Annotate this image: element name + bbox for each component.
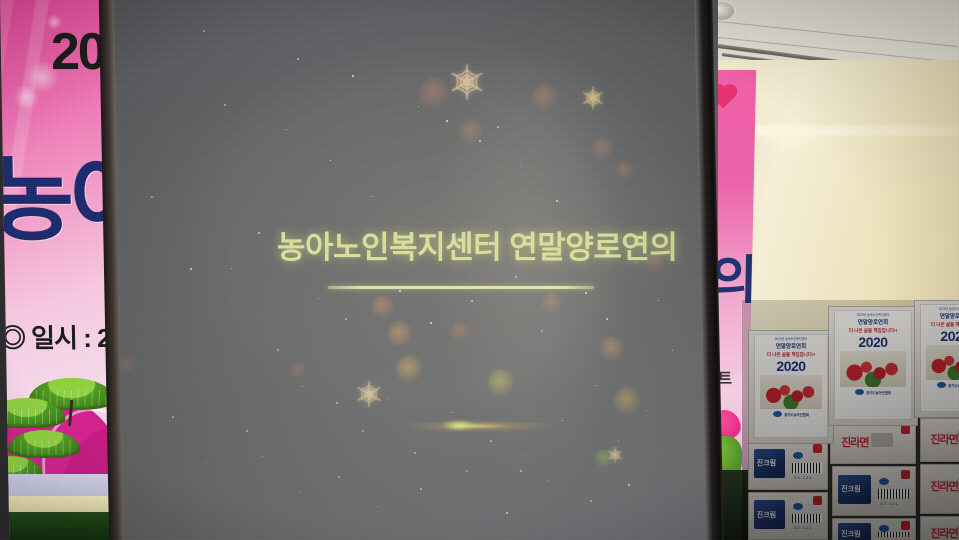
- pack-label: 진크림: [841, 529, 860, 539]
- gift-box-stack: 진라면진라면진크림62.121진크림62.121진라면진크림62.121진크림6…: [742, 300, 959, 540]
- poster-subtitle: 2020년 농아노인복지센터: [939, 307, 959, 311]
- gift-box-poster: 2020년 농아노인복지센터연말양로연회더 나은 삶을 책임집니다!!2020경…: [920, 304, 959, 412]
- org-name: 경기도농아인협회: [948, 383, 959, 388]
- brand-logo-icon: [901, 521, 910, 530]
- poster-year: 2020: [940, 329, 959, 343]
- poster-org-logo: 경기도농아인협회: [773, 411, 809, 417]
- carton-panel: [871, 433, 893, 447]
- org-mark-icon: [773, 411, 782, 417]
- org-name: 경기도농아인협회: [866, 390, 891, 395]
- lens-flare-core: [442, 420, 476, 431]
- brand-logo-icon: [813, 444, 822, 453]
- pack-label: 진크림: [757, 458, 776, 468]
- poster-title: 연말양로연회: [940, 312, 959, 320]
- poster-year: 2020: [776, 359, 805, 373]
- poster-food-image: [926, 345, 959, 380]
- poster-title: 연말양로연회: [858, 318, 888, 326]
- poster-food-image: [760, 375, 822, 409]
- org-mark-icon: [855, 389, 864, 395]
- banner-band-green: [3, 512, 117, 540]
- carton-brand: 진라면: [930, 525, 957, 540]
- ramen-carton: 진라면: [830, 422, 916, 464]
- pack-label: 진크림: [757, 510, 776, 520]
- slide-title: 농아노인복지센터 연말양로연의: [277, 222, 677, 267]
- carton-brand: 진라면: [930, 431, 957, 447]
- ramen-carton: 진크림62.121: [832, 466, 916, 516]
- ramen-carton: 진크림62.121: [748, 440, 828, 490]
- cert-mark-icon: [793, 452, 803, 459]
- barcode: [792, 463, 822, 473]
- ramen-carton: 진라면: [920, 418, 959, 462]
- carton-brand: 진라면: [930, 478, 957, 494]
- screen-surface: [112, 0, 718, 540]
- cert-mark-icon: [879, 478, 889, 485]
- cert-mark-icon: [793, 503, 803, 510]
- pack-label: 진크림: [841, 484, 860, 494]
- org-name: 경기도농아인협회: [784, 412, 809, 417]
- gift-box-poster: 2020년 농아노인복지센터연말양로연회더 나은 삶을 책임집니다!!2020경…: [834, 310, 912, 420]
- banner-year-text: 20: [50, 22, 105, 82]
- poster-year: 2020: [858, 335, 887, 349]
- banner-band-cream: [3, 496, 118, 512]
- barcode: [878, 489, 909, 499]
- barcode: [878, 532, 909, 538]
- ramen-carton: 진크림62.121: [832, 518, 916, 540]
- photo-scene: 의 프트 진라면진라면진크림62.121진크림62.121진라면진크림62.12…: [0, 0, 959, 540]
- poster-org-logo: 경기도농아인협회: [937, 382, 959, 388]
- carton-code: 62.121: [881, 501, 899, 506]
- poster-org-logo: 경기도농아인협회: [855, 389, 891, 395]
- barcode: [792, 514, 822, 523]
- carton-code: 62.121: [794, 475, 812, 480]
- brand-logo-icon: [901, 425, 910, 434]
- carton-code: 62.121: [794, 525, 812, 530]
- poster-subtitle: 2020년 농아노인복지센터: [775, 337, 807, 341]
- brand-logo-icon: [813, 496, 822, 505]
- banner-date-text: ◎ 일시 : 20: [0, 318, 117, 355]
- ramen-carton: 진라면: [920, 464, 959, 514]
- projection-screen: 농아노인복지센터 연말양로연의: [112, 0, 718, 540]
- poster-subtitle: 2020년 농아노인복지센터: [857, 313, 889, 317]
- slide-title-underline: [328, 286, 594, 289]
- banner-band-lavender: [2, 474, 117, 496]
- brand-logo-icon: [901, 470, 910, 479]
- poster-food-image: [840, 351, 905, 387]
- ramen-carton: 진라면: [920, 516, 959, 540]
- gift-box-poster: 2020년 농아노인복지센터연말양로연회더 나은 삶을 책임집니다!!2020경…: [754, 334, 828, 438]
- carton-brand: 진라면: [841, 434, 868, 450]
- banner-headline: 농아: [0, 155, 117, 247]
- ramen-carton: 진크림62.121: [748, 492, 828, 540]
- org-mark-icon: [937, 382, 946, 388]
- wall-glow: [760, 118, 820, 156]
- banner-bokeh: [13, 84, 39, 110]
- poster-title: 연말양로연회: [776, 342, 806, 350]
